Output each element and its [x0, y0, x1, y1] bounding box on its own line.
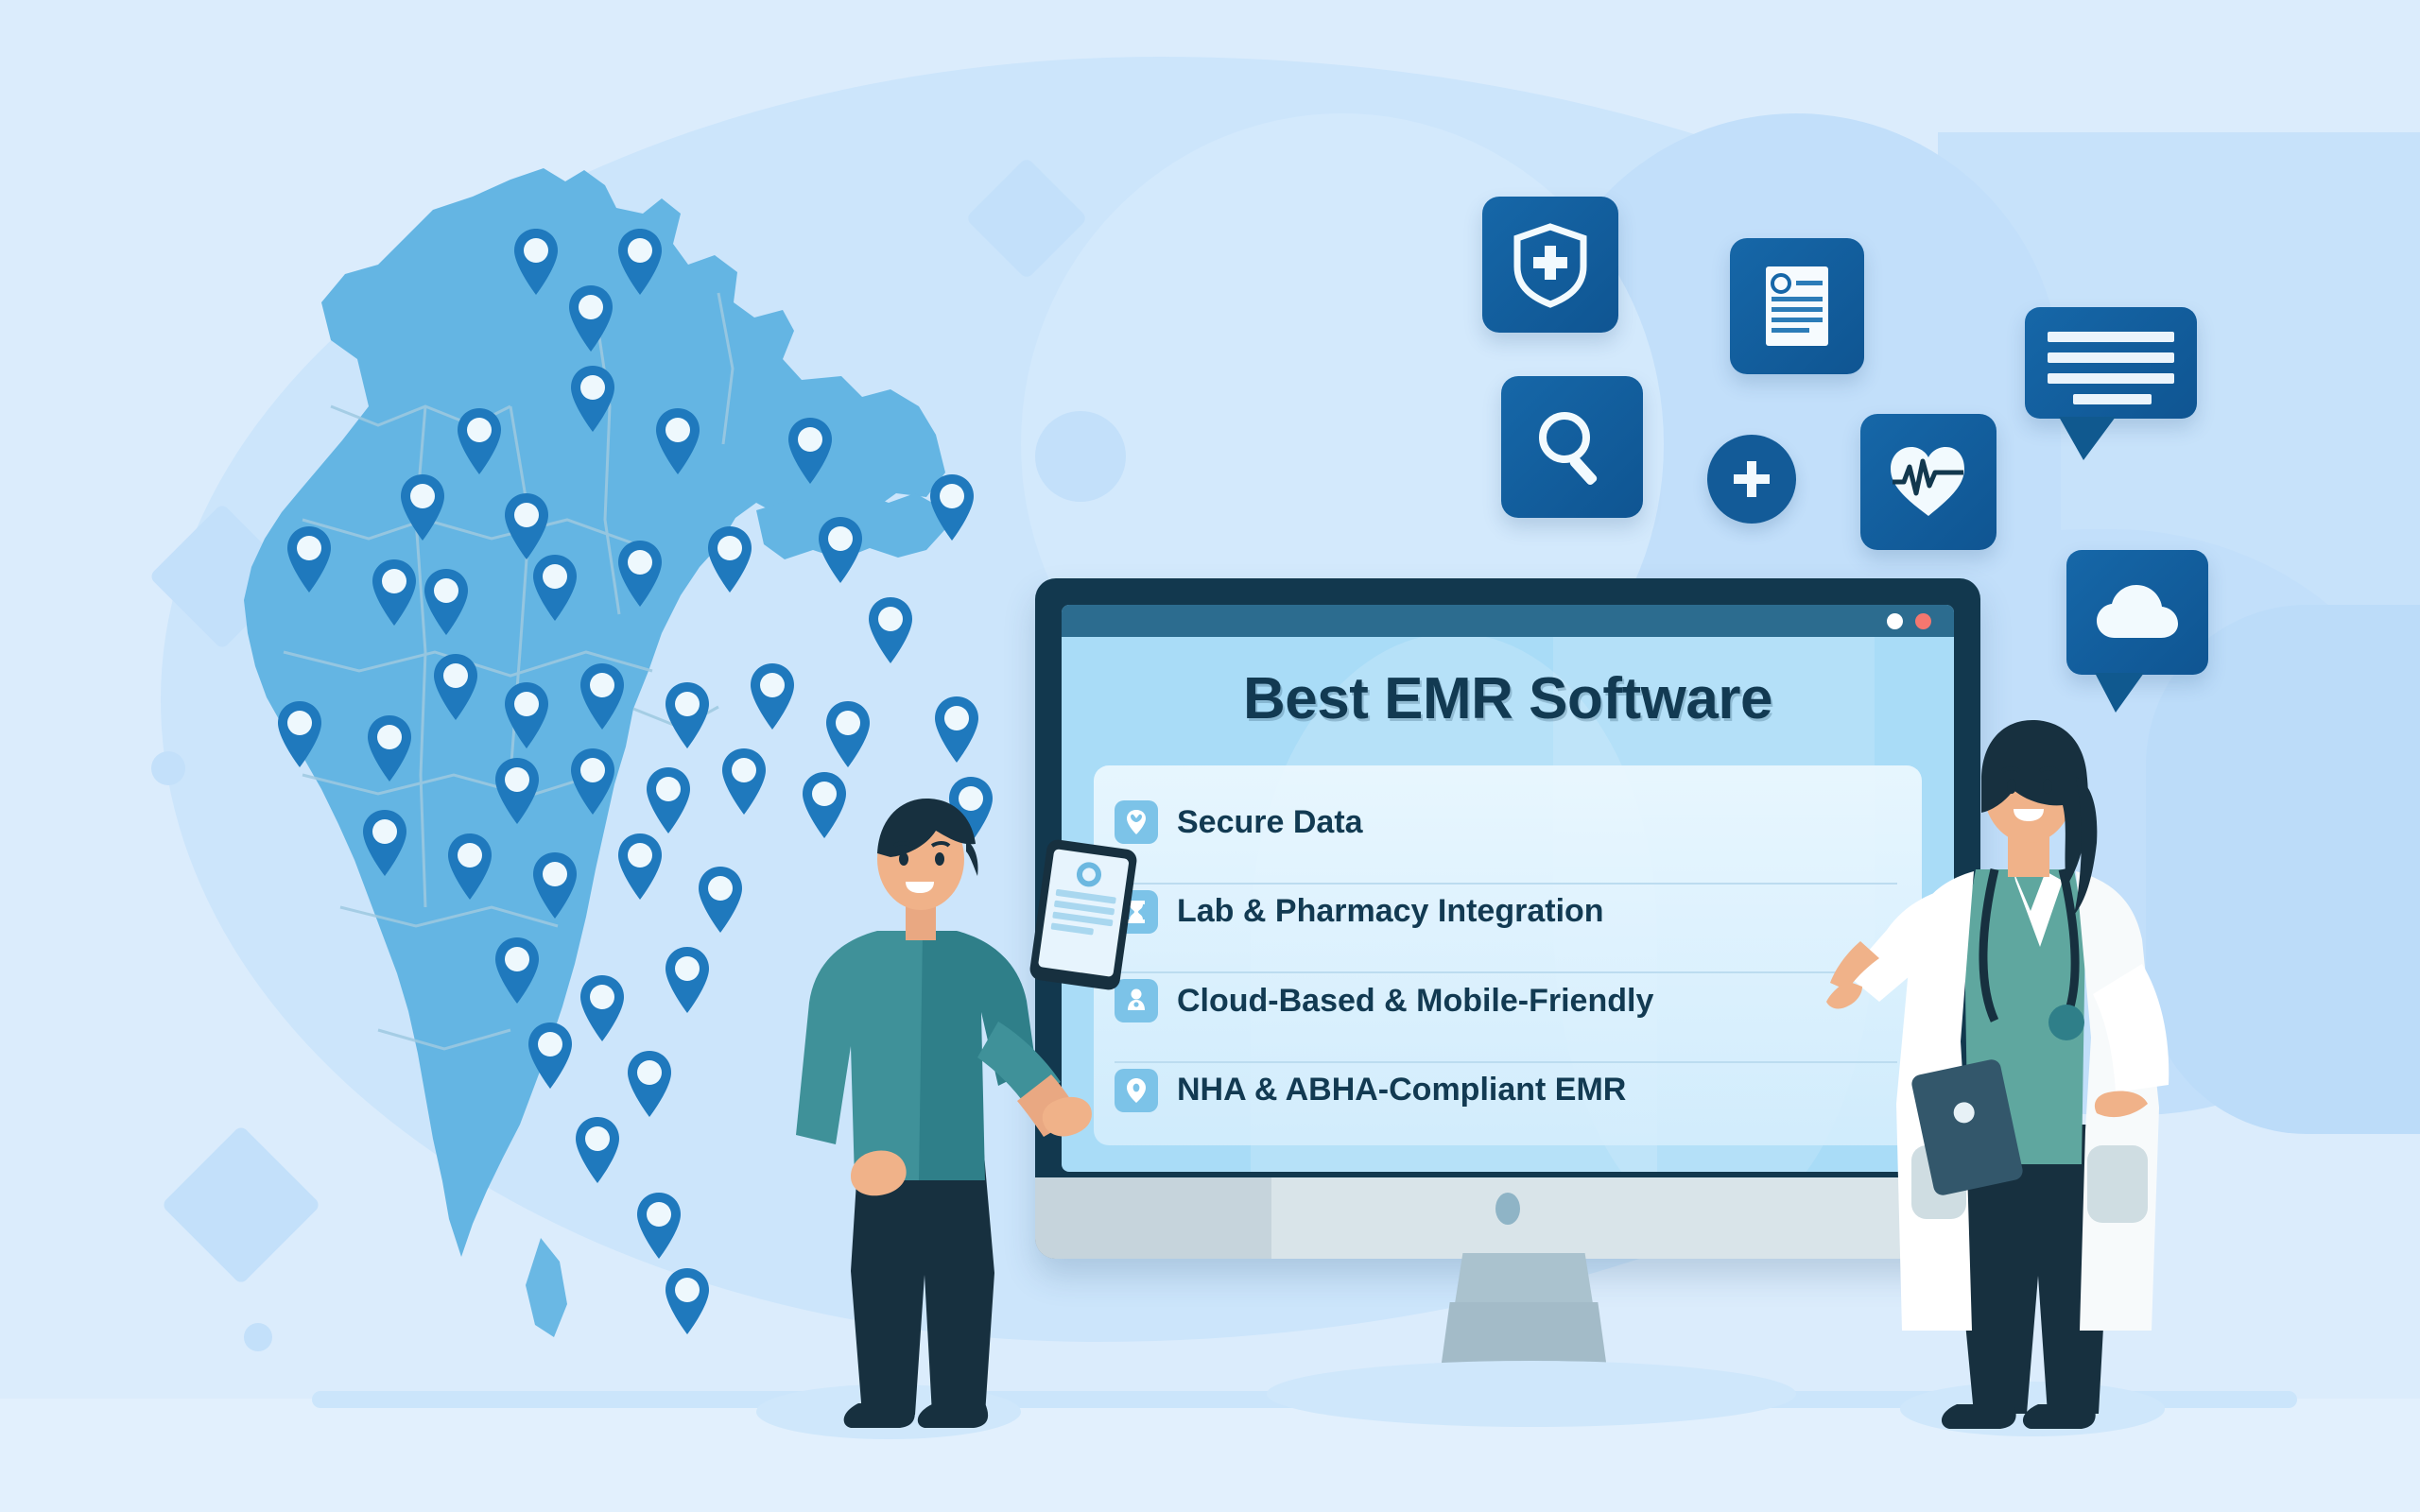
map-pin — [624, 1049, 675, 1119]
map-pin — [454, 406, 505, 476]
map-pin — [572, 1115, 623, 1185]
map-pin — [421, 567, 472, 637]
map-pin — [492, 756, 543, 826]
map-pin — [529, 850, 580, 920]
map-pin — [397, 472, 448, 542]
map-pin — [577, 973, 628, 1043]
map-pin — [662, 945, 713, 1015]
map-pin — [529, 553, 580, 623]
decorative-circle-2 — [151, 751, 185, 785]
phone-line — [1051, 922, 1094, 935]
map-pin — [822, 699, 873, 769]
map-pin — [662, 680, 713, 750]
window-dot-white[interactable] — [1887, 613, 1903, 629]
location-pin-icon — [1115, 1069, 1158, 1112]
map-pin — [567, 364, 618, 434]
map-pin — [567, 747, 618, 816]
map-pin — [643, 765, 694, 835]
magnifier-search-icon[interactable] — [1501, 376, 1643, 518]
feature-label: NHA & ABHA-Compliant EMR — [1177, 1072, 1626, 1108]
illustration-canvas: Best EMR Software Secure Data Lab & Phar… — [0, 0, 2420, 1512]
phone-screen — [1038, 849, 1130, 977]
phone-avatar — [1075, 861, 1102, 888]
monitor-shadow — [1267, 1361, 1796, 1427]
map-pin — [865, 595, 916, 665]
female-doctor-with-tablet — [1824, 718, 2240, 1436]
shield-plus-icon[interactable] — [1482, 197, 1618, 333]
window-title-bar — [1062, 605, 1954, 637]
map-pin — [931, 695, 982, 765]
map-pin — [662, 1266, 713, 1336]
feature-row-lab-pharmacy[interactable]: Lab & Pharmacy Integration — [1115, 883, 1897, 939]
map-pin — [364, 713, 415, 783]
feature-label: Cloud-Based & Mobile-Friendly — [1177, 983, 1653, 1020]
monitor-logo — [1495, 1193, 1520, 1225]
map-pin — [704, 524, 755, 594]
map-pin — [284, 524, 335, 594]
map-pin — [359, 808, 410, 878]
map-pin — [501, 491, 552, 561]
heart-shield-icon — [1115, 800, 1158, 844]
clipboard-document-icon[interactable] — [1730, 238, 1864, 374]
map-pin — [747, 661, 798, 731]
map-pin — [577, 661, 628, 731]
map-pin — [785, 416, 836, 486]
window-dot-red[interactable] — [1915, 613, 1931, 629]
chat-bubble-lines — [2048, 332, 2174, 415]
chat-bubble-icon[interactable] — [2025, 307, 2197, 419]
map-pin — [652, 406, 703, 476]
feature-label: Secure Data — [1177, 804, 1363, 841]
map-pin — [565, 283, 616, 353]
feature-row-secure-data[interactable]: Secure Data — [1115, 795, 1897, 850]
feature-label: Lab & Pharmacy Integration — [1177, 893, 1604, 930]
map-pin — [614, 227, 665, 297]
map-pin — [430, 652, 481, 722]
plus-circle-icon[interactable] — [1707, 435, 1796, 524]
map-pin — [501, 680, 552, 750]
map-pin — [492, 936, 543, 1005]
feature-row-nha-abha[interactable]: NHA & ABHA-Compliant EMR — [1115, 1061, 1897, 1118]
map-pin — [444, 832, 495, 902]
person-icon — [1115, 979, 1158, 1022]
monitor-screen: Best EMR Software Secure Data Lab & Phar… — [1062, 605, 1954, 1172]
feature-list: Secure Data Lab & Pharmacy Integration C… — [1094, 765, 1922, 1145]
map-pin — [614, 539, 665, 609]
map-pin — [369, 558, 420, 627]
decorative-circle-1 — [1035, 411, 1126, 502]
map-pin — [614, 832, 665, 902]
page-title: Best EMR Software — [1062, 665, 1954, 732]
map-pin — [525, 1021, 576, 1091]
map-pin — [510, 227, 562, 297]
tablet-home-button — [1952, 1100, 1977, 1125]
map-pin — [926, 472, 977, 542]
feature-row-cloud-mobile[interactable]: Cloud-Based & Mobile-Friendly — [1115, 971, 1897, 1028]
heart-pulse-icon[interactable] — [1860, 414, 1996, 550]
cloud-bubble-icon[interactable] — [2066, 550, 2208, 675]
map-pin — [815, 515, 866, 585]
map-pin — [633, 1191, 684, 1261]
map-pin — [274, 699, 325, 769]
